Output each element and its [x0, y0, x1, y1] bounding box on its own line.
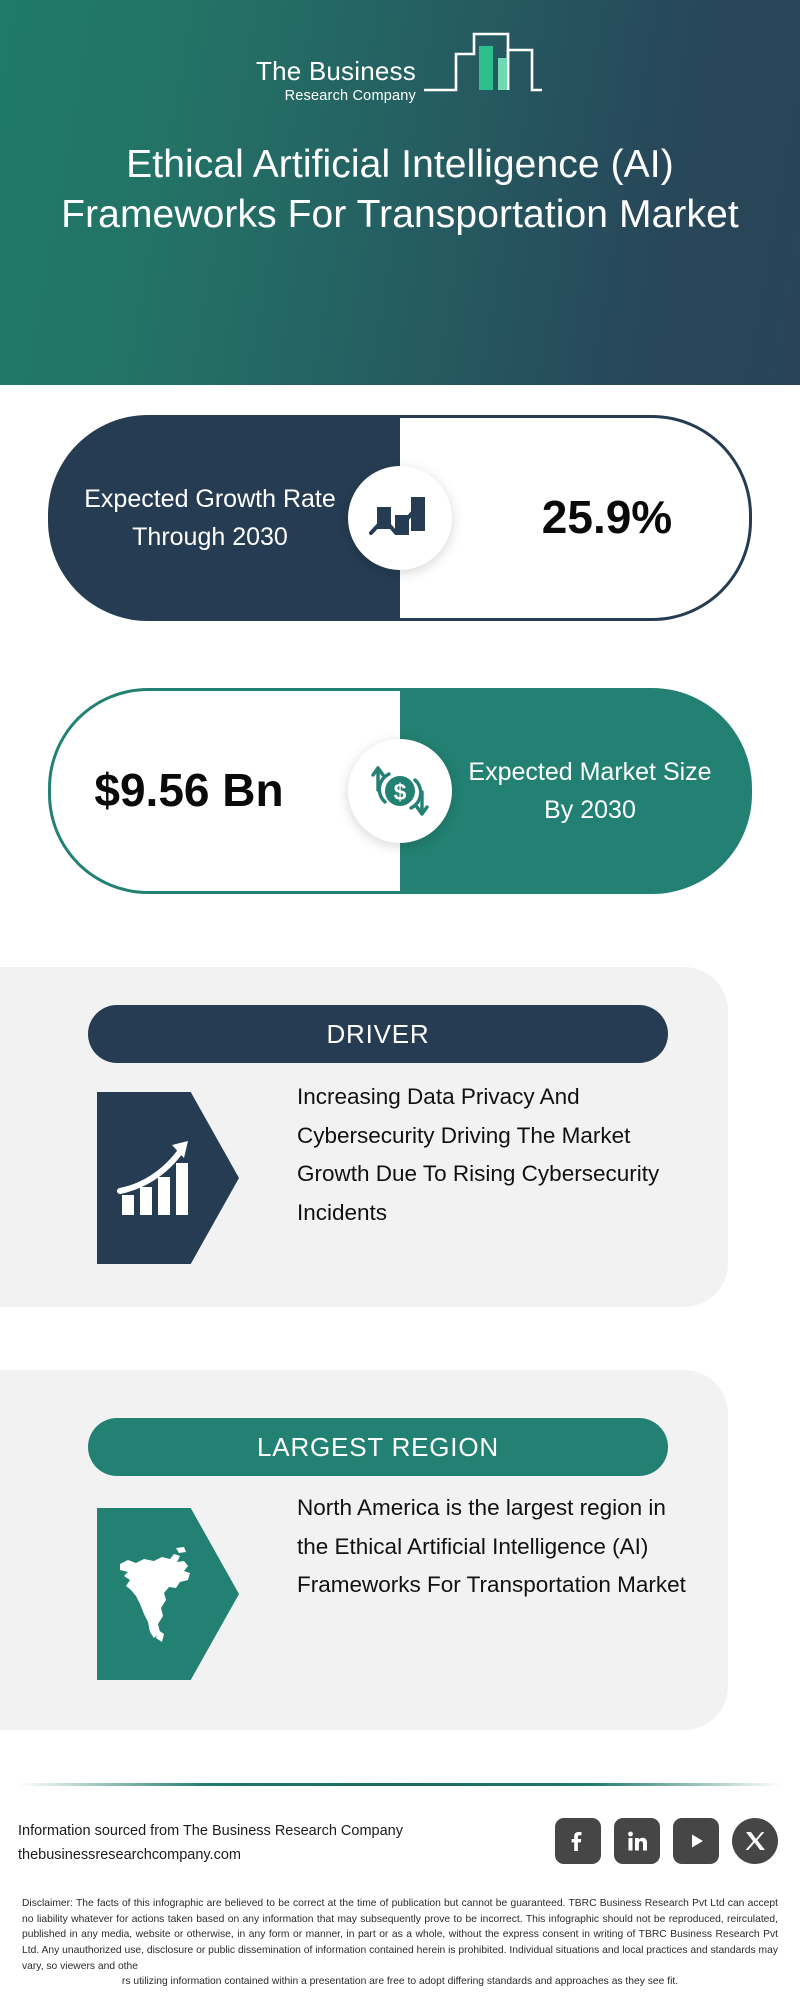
social-links	[555, 1818, 778, 1864]
company-logo: The Business Research Company	[0, 28, 800, 103]
youtube-icon[interactable]	[673, 1818, 719, 1864]
logo-line-2: Research Company	[256, 89, 416, 104]
page-title: Ethical Artificial Intelligence (AI) Fra…	[40, 140, 760, 240]
largest-region-badge: LARGEST REGION	[88, 1418, 668, 1476]
growth-chart-arrow-icon	[348, 466, 452, 570]
driver-badge: DRIVER	[88, 1005, 668, 1063]
dollar-circular-arrows-icon: $	[348, 739, 452, 843]
svg-text:$: $	[394, 779, 407, 805]
x-twitter-icon[interactable]	[732, 1818, 778, 1864]
market-size-label: Expected Market Size By 2030	[400, 688, 752, 894]
growth-rate-value: 25.9%	[400, 415, 752, 621]
bar-chart-logo-mark-icon	[422, 28, 544, 101]
facebook-icon[interactable]	[555, 1818, 601, 1864]
disclaimer-body: Disclaimer: The facts of this infographi…	[22, 1898, 778, 1972]
driver-description: Increasing Data Privacy And Cybersecurit…	[297, 1078, 697, 1233]
header-banner: The Business Research Company Ethical Ar…	[0, 0, 800, 385]
source-attribution: Information sourced from The Business Re…	[18, 1820, 498, 1868]
largest-region-description: North America is the largest region in t…	[297, 1489, 697, 1605]
source-website-link[interactable]: thebusinessresearchcompany.com	[18, 1844, 498, 1868]
disclaimer-tail: rs utilizing information contained withi…	[22, 1974, 778, 1990]
footer-divider	[18, 1783, 782, 1786]
linkedin-icon[interactable]	[614, 1818, 660, 1864]
disclaimer-text: Disclaimer: The facts of this infographi…	[22, 1896, 778, 1990]
logo-wordmark: The Business Research Company	[256, 58, 416, 104]
stat-expected-growth-rate: Expected Growth Rate Through 2030 25.9%	[48, 415, 752, 621]
stat-expected-market-size: $9.56 Bn Expected Market Size By 2030 $	[48, 688, 752, 894]
logo-line-1: The Business	[256, 58, 416, 84]
source-line-1: Information sourced from The Business Re…	[18, 1820, 498, 1844]
